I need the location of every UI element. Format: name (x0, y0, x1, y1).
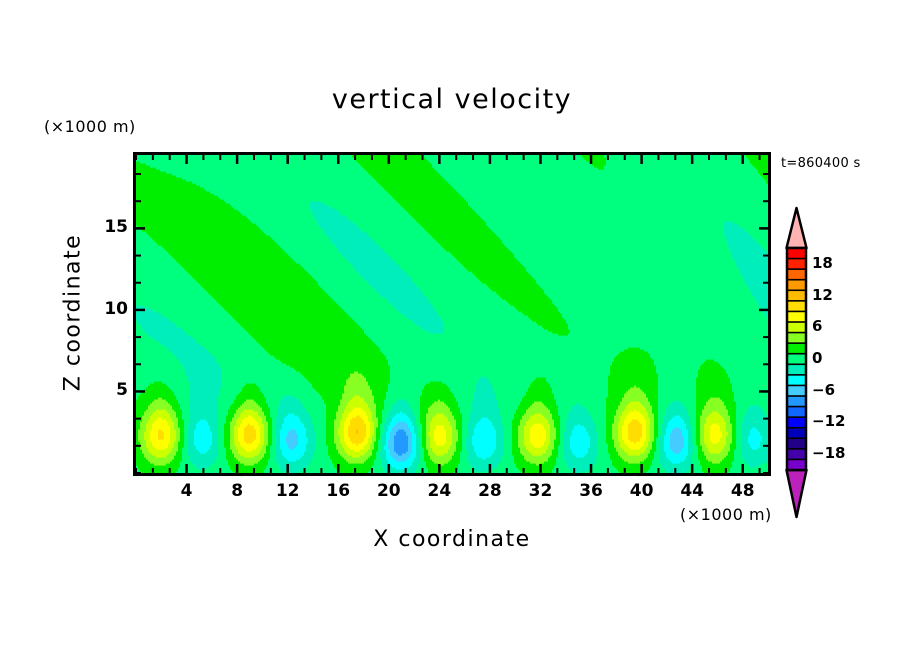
x-tick-label: 24 (419, 481, 459, 501)
colorbar-tick-label: 6 (812, 317, 862, 335)
axis-ticks (136, 155, 768, 473)
x-axis-title: X coordinate (136, 527, 768, 552)
colorbar-tick-label: −6 (812, 381, 862, 399)
colorbar (787, 208, 807, 517)
x-tick-label: 40 (622, 481, 662, 501)
x-tick-label: 4 (167, 481, 207, 501)
x-tick-label: 48 (723, 481, 763, 501)
y-tick-label: 15 (88, 217, 128, 237)
x-axis-unit-label: (×1000 m) (680, 505, 772, 524)
y-axis-unit-label: (×1000 m) (44, 117, 136, 136)
y-axis-title: Z coordinate (61, 213, 86, 413)
colorbar-tick-label: 18 (812, 254, 862, 272)
page-title: vertical velocity (0, 84, 904, 115)
x-tick-label: 20 (369, 481, 409, 501)
plot-frame (135, 154, 770, 475)
x-tick-label: 32 (520, 481, 560, 501)
colorbar-tick-label: −12 (812, 412, 862, 430)
timestamp-annotation: t=860400 s (781, 156, 861, 171)
y-tick-label: 5 (88, 380, 128, 400)
contour-bands (136, 155, 769, 474)
x-tick-label: 8 (217, 481, 257, 501)
x-tick-label: 16 (318, 481, 358, 501)
x-tick-label: 12 (268, 481, 308, 501)
x-tick-label: 44 (672, 481, 712, 501)
colorbar-tick-label: 12 (812, 286, 862, 304)
y-tick-label: 10 (88, 299, 128, 319)
x-tick-label: 28 (470, 481, 510, 501)
colorbar-tick-label: −18 (812, 444, 862, 462)
colorbar-tick-label: 0 (812, 349, 862, 367)
plot-canvas: vertical velocity t=860400 s (×1000 m) (… (0, 0, 904, 654)
x-tick-label: 36 (571, 481, 611, 501)
